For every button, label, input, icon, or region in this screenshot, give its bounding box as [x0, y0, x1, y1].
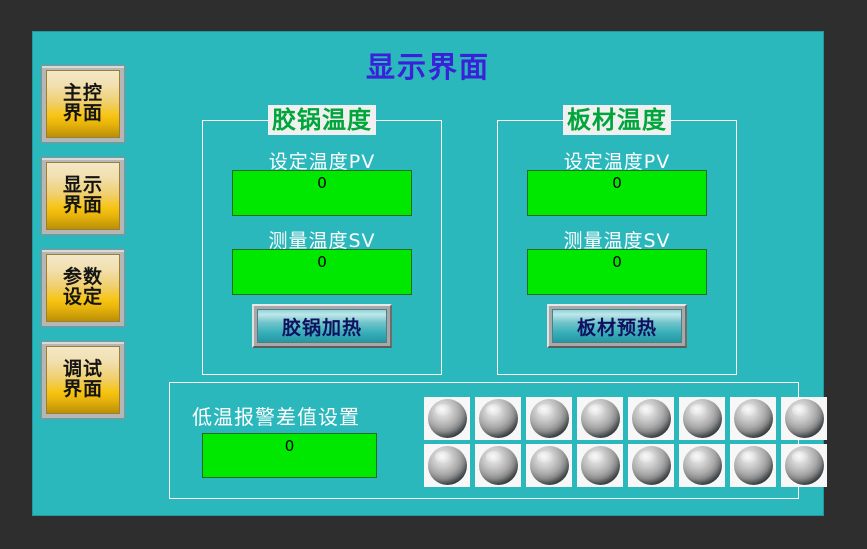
indicator-lamp-tile[interactable] — [526, 397, 572, 440]
board-preheat-button-label: 板材预热 — [577, 313, 657, 340]
indicator-lamp-icon — [785, 399, 824, 438]
sidebar-item-main-control-label-line2: 界面 — [63, 104, 103, 124]
indicator-lamp-icon — [530, 399, 569, 438]
sidebar-item-parameter-setting-label-line1: 参数 — [63, 268, 103, 288]
indicator-lamp-icon — [632, 399, 671, 438]
indicator-lamp-tile[interactable] — [526, 444, 572, 487]
device-bezel: 显示界面 主控 界面 显示 界面 参数 设定 — [0, 0, 867, 549]
indicator-lamp-icon — [581, 399, 620, 438]
sidebar-item-parameter-setting-face: 参数 设定 — [46, 254, 120, 322]
sidebar-item-debug-label-line2: 界面 — [63, 380, 103, 400]
glue-pot-heating-button-label: 胶锅加热 — [282, 313, 362, 340]
indicator-lamp-icon — [683, 399, 722, 438]
indicator-lamp-icon — [734, 446, 773, 485]
sidebar-item-display-face: 显示 界面 — [46, 162, 120, 230]
indicator-lamp-tile[interactable] — [679, 397, 725, 440]
panel-glue-pot-legend: 胶锅温度 — [268, 105, 376, 135]
sidebar-item-parameter-setting[interactable]: 参数 设定 — [41, 249, 125, 327]
indicator-lamp-icon — [581, 446, 620, 485]
panel-board-legend: 板材温度 — [563, 105, 671, 135]
glue-pot-sv-value[interactable]: 0 — [232, 249, 412, 295]
indicator-lamp-grid — [424, 397, 827, 487]
indicator-lamp-tile[interactable] — [679, 444, 725, 487]
panel-board-temperature: 板材温度 设定温度PV 0 测量温度SV 0 板材预热 — [497, 120, 737, 375]
indicator-lamp-tile[interactable] — [781, 397, 827, 440]
indicator-lamp-tile[interactable] — [475, 444, 521, 487]
sidebar-item-display-label-line1: 显示 — [63, 176, 103, 196]
board-preheat-button[interactable]: 板材预热 — [547, 304, 687, 348]
indicator-lamp-tile[interactable] — [577, 444, 623, 487]
sidebar-item-parameter-setting-label-line2: 设定 — [63, 288, 103, 308]
sidebar-item-debug-label-line1: 调试 — [63, 360, 103, 380]
sidebar-item-debug[interactable]: 调试 界面 — [41, 341, 125, 419]
indicator-lamp-icon — [428, 399, 467, 438]
sidebar-item-display[interactable]: 显示 界面 — [41, 157, 125, 235]
indicator-lamp-tile[interactable] — [628, 444, 674, 487]
sidebar-item-debug-face: 调试 界面 — [46, 346, 120, 414]
indicator-lamp-icon — [428, 446, 467, 485]
indicator-lamp-tile[interactable] — [475, 397, 521, 440]
glue-pot-pv-value[interactable]: 0 — [232, 170, 412, 216]
board-pv-value[interactable]: 0 — [527, 170, 707, 216]
hmi-screen: 显示界面 主控 界面 显示 界面 参数 设定 — [33, 32, 823, 515]
indicator-lamp-icon — [785, 446, 824, 485]
panel-glue-pot-temperature: 胶锅温度 设定温度PV 0 测量温度SV 0 胶锅加热 — [202, 120, 442, 375]
indicator-lamp-tile[interactable] — [577, 397, 623, 440]
sidebar-item-main-control-face: 主控 界面 — [46, 70, 120, 138]
alarm-differential-value[interactable]: 0 — [202, 433, 377, 478]
indicator-lamp-tile[interactable] — [424, 444, 470, 487]
indicator-lamp-icon — [530, 446, 569, 485]
sidebar-nav: 主控 界面 显示 界面 参数 设定 调试 界面 — [41, 65, 133, 433]
indicator-lamp-tile[interactable] — [730, 397, 776, 440]
indicator-lamp-icon — [683, 446, 722, 485]
indicator-lamp-icon — [734, 399, 773, 438]
sidebar-item-display-label-line2: 界面 — [63, 196, 103, 216]
indicator-lamp-icon — [479, 446, 518, 485]
panel-low-temp-alarm: 低温报警差值设置 0 — [169, 382, 799, 499]
glue-pot-heating-button[interactable]: 胶锅加热 — [252, 304, 392, 348]
indicator-lamp-tile[interactable] — [628, 397, 674, 440]
indicator-lamp-tile[interactable] — [781, 444, 827, 487]
indicator-lamp-tile[interactable] — [730, 444, 776, 487]
board-preheat-button-face: 板材预热 — [552, 309, 682, 343]
sidebar-item-main-control-label-line1: 主控 — [63, 84, 103, 104]
alarm-differential-label: 低温报警差值设置 — [192, 401, 360, 430]
indicator-lamp-icon — [479, 399, 518, 438]
indicator-lamp-icon — [632, 446, 671, 485]
sidebar-item-main-control[interactable]: 主控 界面 — [41, 65, 125, 143]
page-title: 显示界面 — [33, 53, 823, 82]
board-sv-value[interactable]: 0 — [527, 249, 707, 295]
indicator-lamp-tile[interactable] — [424, 397, 470, 440]
glue-pot-heating-button-face: 胶锅加热 — [257, 309, 387, 343]
